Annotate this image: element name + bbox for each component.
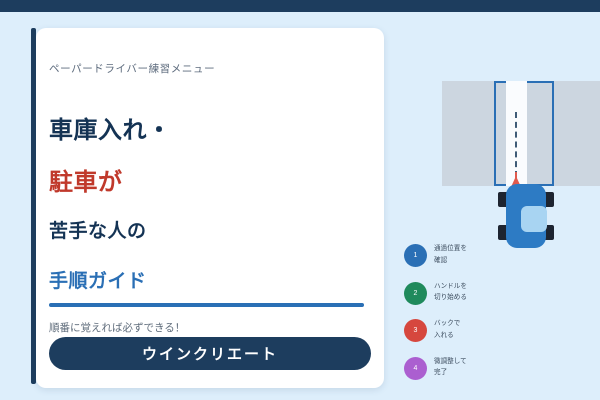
headline-line-4: 手順ガイド [49,266,147,293]
step-number-badge: 4 [404,357,427,380]
step-item[interactable]: 2ハンドルを切り始める [402,282,592,316]
top-bar [0,0,600,12]
step-item[interactable]: 3バックで入れる [402,319,592,353]
step-number-badge: 1 [404,244,427,267]
step-number-badge: 3 [404,319,427,342]
car-body [506,184,546,248]
guide-path-dashed-line [515,112,517,177]
card-tagline: 順番に覚えれば必ずできる！ [49,320,185,335]
step-label: 通過位置を確認 [434,243,584,266]
headline-line-3: 苦手な人の [49,216,147,243]
card-accent-bar [31,28,36,384]
divider-rule [49,303,364,307]
cta-button[interactable]: ウインクリエート [49,337,371,370]
step-number-badge: 2 [404,282,427,305]
step-label: ハンドルを切り始める [434,281,584,304]
step-label: バックで入れる [434,318,584,341]
card-content: ペーパードライバー練習メニュー 車庫入れ・ 駐車が 苦手な人の 手順ガイド 順番… [49,28,384,388]
page-stage: ペーパードライバー練習メニュー 車庫入れ・ 駐車が 苦手な人の 手順ガイド 順番… [0,12,600,400]
car-illustration [498,184,554,248]
step-item[interactable]: 1通過位置を確認 [402,244,592,278]
card-eyebrow: ペーパードライバー練習メニュー [49,61,215,76]
step-item[interactable]: 4微調整して完了 [402,357,592,391]
headline-line-2-highlight: 駐車が [49,162,123,197]
promo-card: ペーパードライバー練習メニュー 車庫入れ・ 駐車が 苦手な人の 手順ガイド 順番… [36,28,384,388]
step-label: 微調整して完了 [434,356,584,379]
headline-line-1: 車庫入れ・ [49,110,172,145]
step-list: 1通過位置を確認2ハンドルを切り始める3バックで入れる4微調整して完了 [402,244,600,400]
car-windshield [521,206,547,232]
